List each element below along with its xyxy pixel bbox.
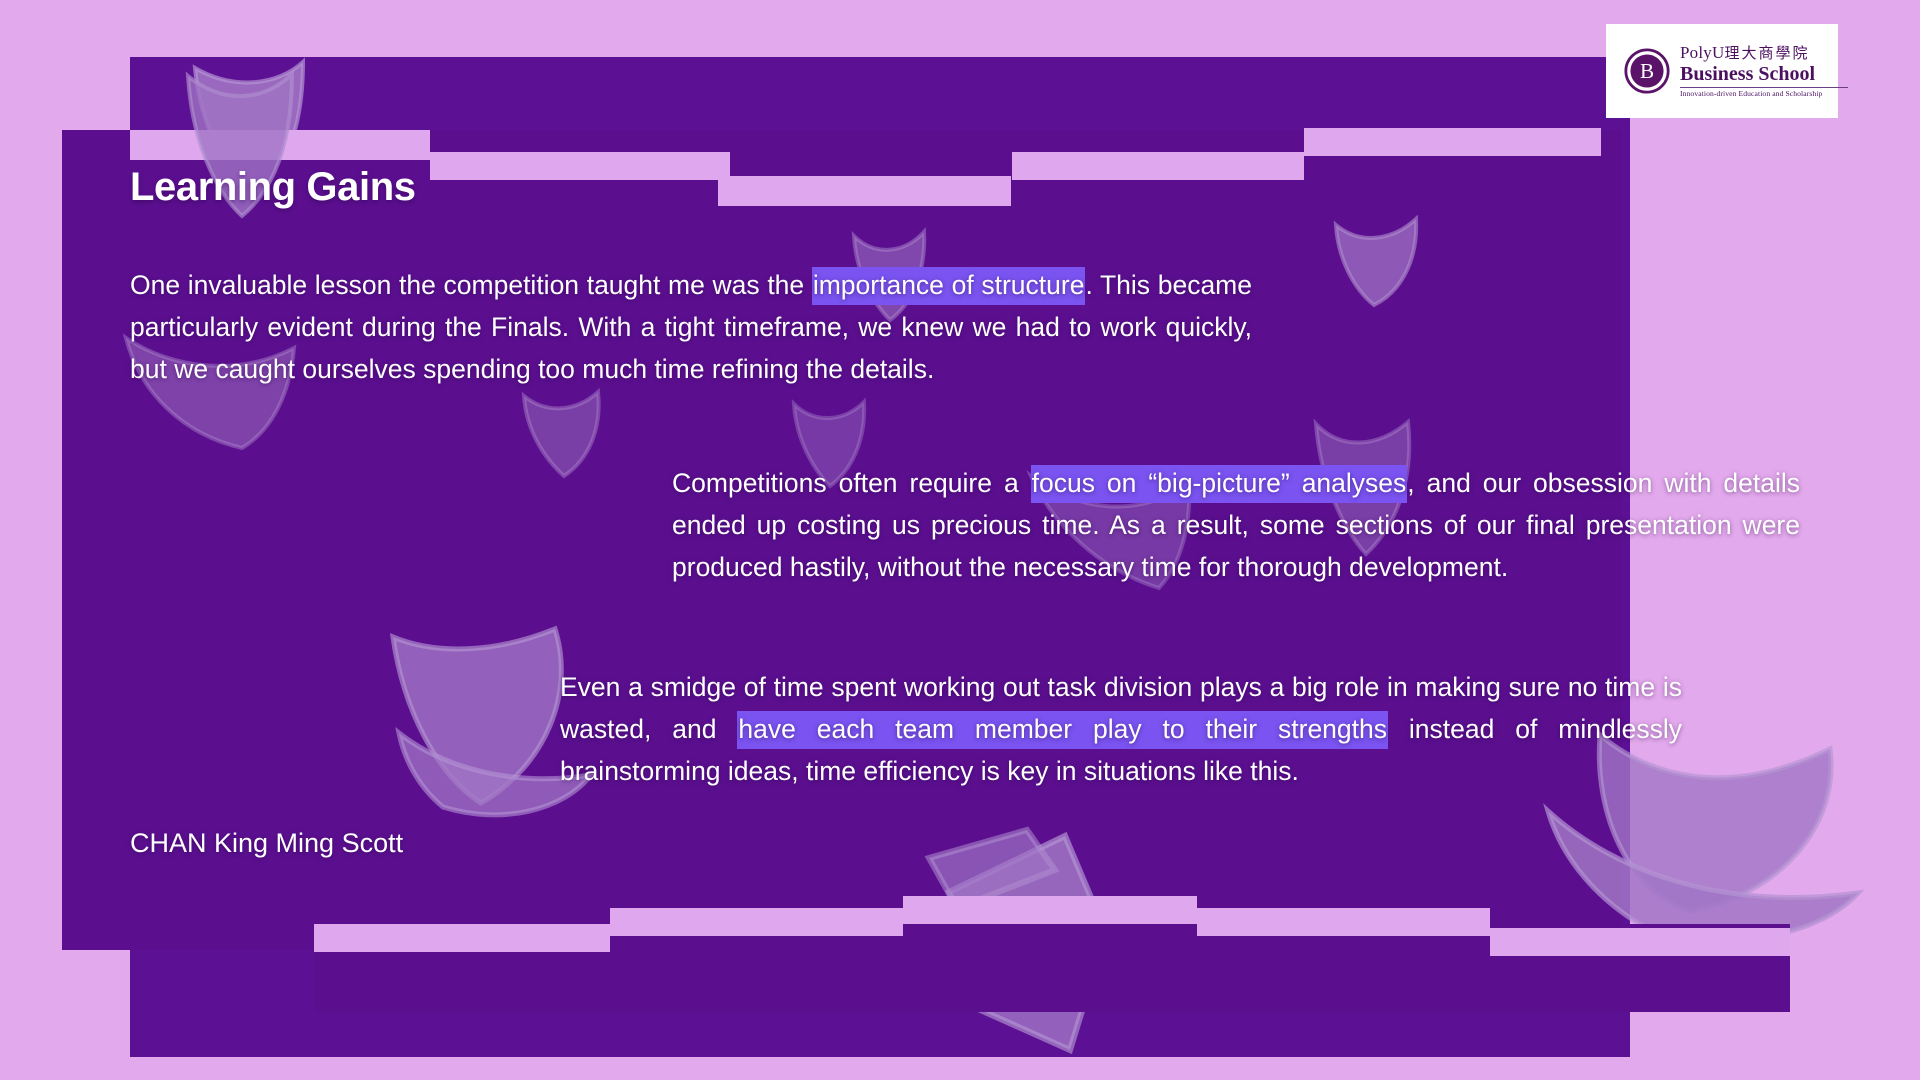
logo-chinese-name: 理大商學院 — [1724, 46, 1809, 62]
logo-text-block: PolyU理大商學院 Business School Innovation-dr… — [1680, 44, 1848, 98]
logo-line-primary: PolyU理大商學院 — [1680, 44, 1848, 62]
logo-divider — [1680, 87, 1848, 88]
highlighted-text: have each team member play to their stre… — [737, 711, 1388, 749]
accent-bar-top-2 — [430, 152, 730, 180]
polyu-emblem-icon: B — [1624, 48, 1670, 94]
body-text: Competitions often require a — [672, 468, 1031, 498]
accent-bar-top-1 — [130, 130, 430, 160]
logo-line-school: Business School — [1680, 64, 1848, 84]
accent-bar-top-4 — [1012, 152, 1304, 180]
author-name: CHAN King Ming Scott — [130, 828, 403, 859]
polyu-emblem-letter: B — [1640, 59, 1654, 83]
slide-title: Learning Gains — [130, 165, 416, 210]
slide-canvas: B PolyU理大商學院 Business School Innovation-… — [0, 0, 1920, 1080]
accent-bar-bottom-4 — [1197, 908, 1490, 936]
accent-bar-bottom-1 — [314, 924, 610, 952]
accent-bar-top-3 — [718, 176, 1011, 206]
logo-tagline: Innovation-driven Education and Scholars… — [1680, 90, 1848, 98]
logo-latin-name: PolyU — [1680, 43, 1724, 62]
accent-bar-bottom-3 — [903, 896, 1197, 924]
paragraph-2: Competitions often require a focus on “b… — [672, 462, 1800, 588]
paragraph-3: Even a smidge of time spent working out … — [560, 666, 1682, 792]
highlighted-text: focus on “big-picture” analyses — [1031, 465, 1408, 503]
accent-bar-bottom-5 — [1490, 928, 1790, 956]
highlighted-text: importance of structure — [812, 267, 1086, 305]
accent-bar-top-5 — [1304, 128, 1601, 156]
accent-bar-bottom-2 — [610, 908, 903, 936]
body-text: One invaluable lesson the competition ta… — [130, 270, 812, 300]
polyu-business-school-logo: B PolyU理大商學院 Business School Innovation-… — [1606, 24, 1838, 118]
paragraph-1: One invaluable lesson the competition ta… — [130, 264, 1252, 390]
